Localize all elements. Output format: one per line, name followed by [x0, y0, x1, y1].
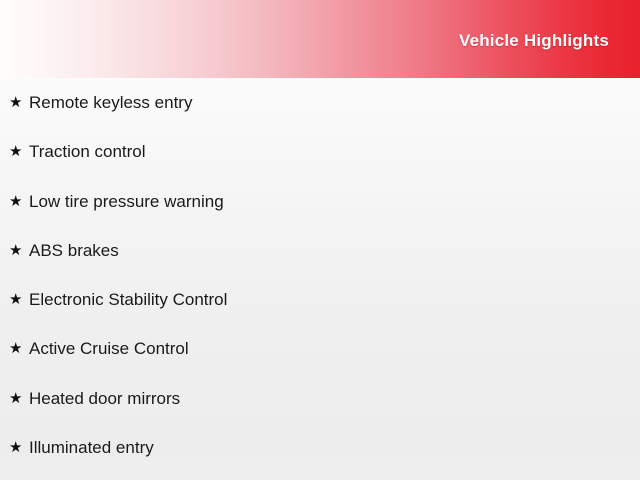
star-icon: ★ — [9, 324, 23, 373]
list-item: ★ Electronic Stability Control — [0, 275, 640, 324]
star-icon: ★ — [9, 127, 23, 176]
list-item: ★ Traction control — [0, 127, 640, 176]
star-icon: ★ — [9, 226, 23, 275]
list-item-label: Remote keyless entry — [29, 93, 192, 112]
list-item-label: Heated door mirrors — [29, 389, 180, 408]
list-item: ★ Low tire pressure warning — [0, 177, 640, 226]
vehicle-highlights-page: Vehicle Highlights ★ Remote keyless entr… — [0, 0, 640, 480]
list-item: ★ Remote keyless entry — [0, 78, 640, 127]
list-item-label: Electronic Stability Control — [29, 290, 227, 309]
list-item-label: ABS brakes — [29, 241, 119, 260]
star-icon: ★ — [9, 423, 23, 472]
list-item-label: Illuminated entry — [29, 438, 154, 457]
star-icon: ★ — [9, 374, 23, 423]
list-item: ★ ABS brakes — [0, 226, 640, 275]
header-banner: Vehicle Highlights — [0, 0, 640, 78]
list-item-label: Traction control — [29, 142, 146, 161]
star-icon: ★ — [9, 177, 23, 226]
star-icon: ★ — [9, 275, 23, 324]
page-title: Vehicle Highlights — [459, 30, 609, 52]
list-item: ★ Active Cruise Control — [0, 324, 640, 373]
list-item-label: Active Cruise Control — [29, 339, 189, 358]
vehicle-highlights-list: ★ Remote keyless entry ★ Traction contro… — [0, 78, 640, 472]
star-icon: ★ — [9, 78, 23, 127]
list-item-label: Low tire pressure warning — [29, 192, 224, 211]
list-item: ★ Illuminated entry — [0, 423, 640, 472]
list-item: ★ Heated door mirrors — [0, 374, 640, 423]
